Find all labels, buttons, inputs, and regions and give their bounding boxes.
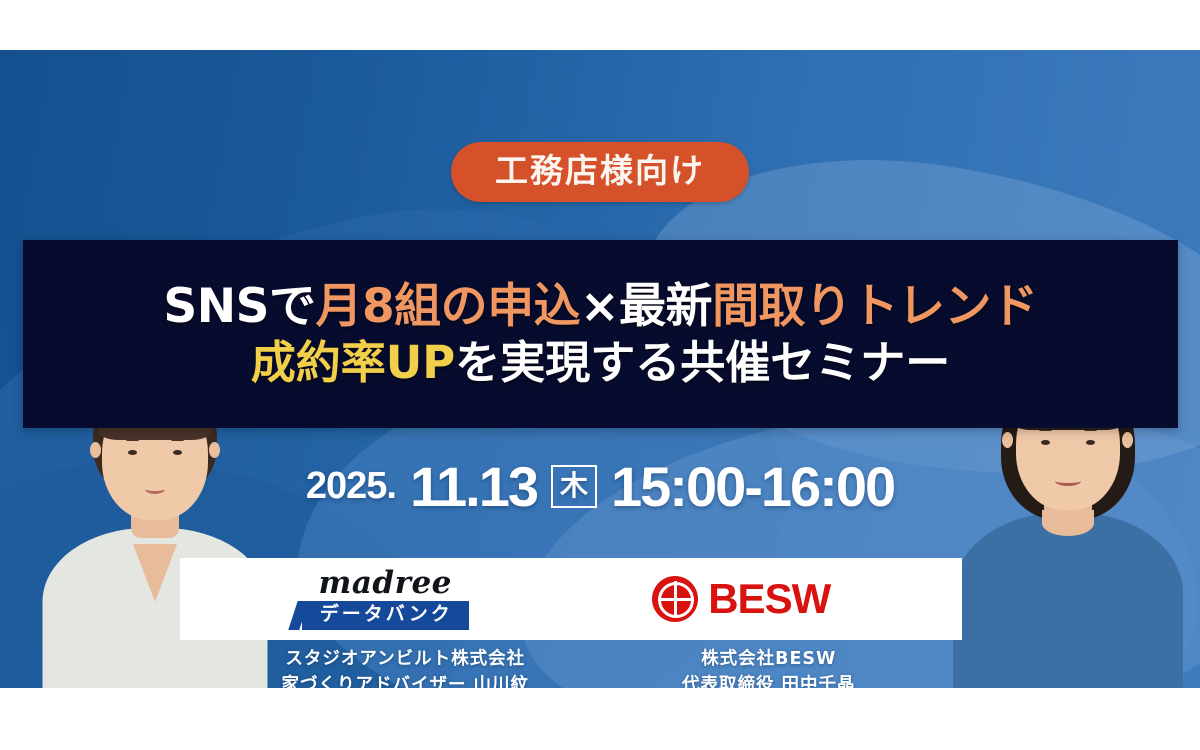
title-seg-2: 月8組の申込 [315, 279, 580, 334]
schedule-month-day: 11.13 [410, 454, 537, 519]
target-audience-badge: 工務店様向け [451, 142, 749, 202]
seminar-title-line-2: 成約率UPを実現する共催セミナー [251, 336, 951, 389]
besw-emblem-ring [658, 582, 694, 618]
seminar-schedule: 2025. 11.13 木 15:00-16:00 [0, 454, 1200, 519]
speaker-captions: スタジオアンビルト株式会社 家づくりアドバイザー 山川紋 株式会社BESW 代表… [180, 646, 962, 688]
photo-body-right [953, 513, 1183, 688]
logo-row: madree データバンク BESW [180, 558, 962, 640]
photo-ear-right-2 [1122, 432, 1133, 448]
schedule-day-of-week: 木 [551, 465, 597, 508]
title-seg-4: 間取りトレンド [712, 279, 1038, 334]
speaker-right-company: 株式会社BESW [682, 646, 856, 672]
title-seg-6: を実現する共催セミナー [455, 336, 950, 389]
seminar-title-band: SNSで月8組の申込×最新間取りトレンド 成約率UPを実現する共催セミナー [23, 240, 1178, 428]
title-seg-5: 成約率UP [251, 336, 456, 389]
page-canvas: 工務店様向け SNSで月8組の申込×最新間取りトレンド 成約率UPを実現する共催… [0, 0, 1200, 750]
photo-collar-left [133, 544, 177, 602]
speaker-right-name: 代表取締役 田中千晶 [682, 672, 856, 688]
title-seg-3: ×最新 [580, 279, 712, 334]
madree-wordmark: madree [319, 568, 452, 599]
speaker-caption-right: 株式会社BESW 代表取締役 田中千晶 [682, 646, 856, 688]
photo-eye-right-2 [1086, 440, 1095, 445]
photo-ear-right-1 [1002, 432, 1013, 448]
besw-emblem-icon [652, 576, 698, 622]
seminar-title-line-1: SNSで月8組の申込×最新間取りトレンド [163, 279, 1037, 334]
seminar-banner: 工務店様向け SNSで月8組の申込×最新間取りトレンド 成約率UPを実現する共催… [0, 50, 1200, 688]
besw-logo: BESW [652, 576, 830, 622]
photo-eye-right-1 [1041, 440, 1050, 445]
madree-logo: madree データバンク [302, 568, 469, 630]
schedule-year: 2025. [306, 465, 396, 508]
schedule-time: 15:00-16:00 [611, 454, 894, 519]
madree-databank-label: データバンク [302, 601, 469, 630]
speaker-caption-left: スタジオアンビルト株式会社 家づくりアドバイザー 山川紋 [281, 646, 529, 688]
title-seg-1: SNSで [163, 279, 315, 334]
besw-wordmark: BESW [708, 578, 830, 620]
speaker-left-company: スタジオアンビルト株式会社 [281, 646, 529, 672]
speaker-left-name: 家づくりアドバイザー 山川紋 [281, 672, 529, 688]
